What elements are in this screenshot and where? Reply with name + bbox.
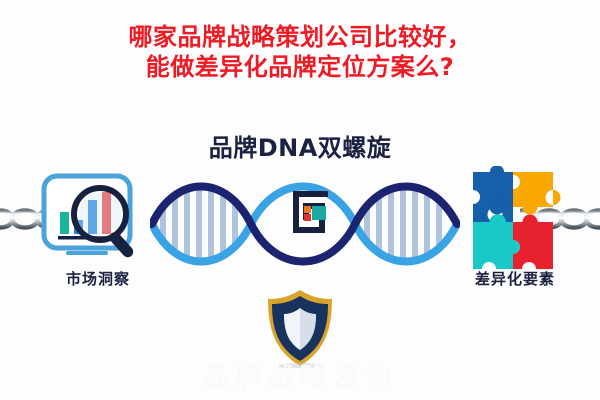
watermark-text: 品牌战略咨询 bbox=[0, 357, 600, 394]
nub-blue bbox=[490, 200, 505, 215]
chart-magnifier-icon bbox=[38, 168, 156, 268]
puzzle-pieces-icon bbox=[455, 166, 567, 276]
bar-teal bbox=[60, 212, 69, 234]
subtitle: 品牌DNA双螺旋 bbox=[0, 128, 600, 163]
logo-square-orange bbox=[304, 206, 311, 213]
poster-canvas: 哪家品牌战略策划公司比较好， 能做差异化品牌定位方案么? 品牌DNA双螺旋 bbox=[0, 0, 600, 400]
brand-logo-mark bbox=[282, 186, 336, 240]
piece-top-right bbox=[513, 172, 561, 207]
chart-stand bbox=[66, 251, 108, 255]
headline-line-2: 能做差异化品牌定位方案么? bbox=[0, 52, 600, 82]
logo-square-teal bbox=[312, 206, 326, 220]
logo-square-red bbox=[304, 214, 311, 221]
security-shield-icon bbox=[264, 288, 336, 368]
page-title: 哪家品牌战略策划公司比较好， 能做差异化品牌定位方案么? bbox=[0, 22, 600, 82]
headline-line-1: 哪家品牌战略策划公司比较好， bbox=[129, 23, 472, 51]
nub-cyan bbox=[490, 215, 505, 230]
nub-orange bbox=[523, 200, 538, 215]
right-node-label: 差异化要素 bbox=[445, 268, 585, 289]
nub-red bbox=[523, 215, 538, 230]
left-node-label: 市场洞察 bbox=[28, 268, 168, 289]
